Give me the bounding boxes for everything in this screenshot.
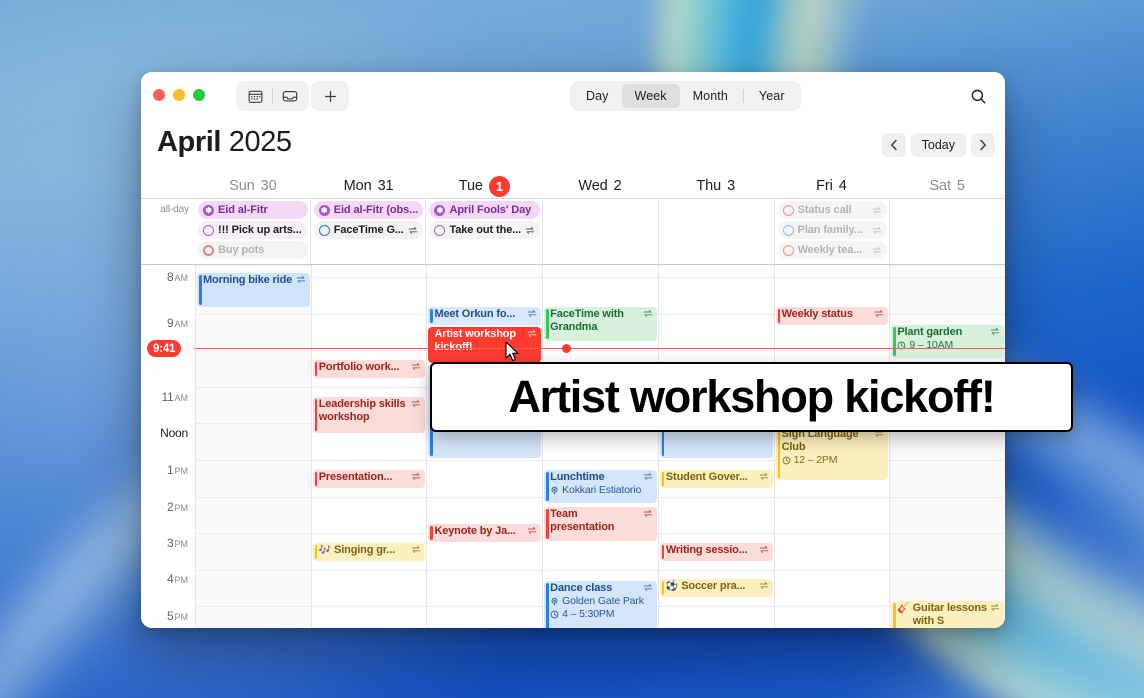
all-day-event[interactable]: Buy pots xyxy=(198,241,308,259)
event-color-bar xyxy=(315,472,318,486)
next-week-button[interactable] xyxy=(971,133,995,157)
hour-gridline xyxy=(427,277,542,278)
hour-label: 2PM xyxy=(167,500,188,514)
repeat-icon xyxy=(643,309,653,318)
hour-label: 5PM xyxy=(167,609,188,623)
header-bar: April 2025 Today xyxy=(141,120,1005,174)
all-day-event-title: !!! Pick up arts... xyxy=(218,224,303,236)
event-title: Soccer pra... xyxy=(681,580,755,593)
event-color-bar xyxy=(778,309,781,323)
view-toggle-group xyxy=(236,81,309,111)
hour-gridline xyxy=(312,314,427,315)
page-title: April 2025 xyxy=(157,126,292,159)
event-time-text: 4 – 5:30PM xyxy=(562,608,614,621)
hour-gridline xyxy=(196,533,311,534)
all-day-column-1[interactable]: ✱Eid al-Fitr (obs...FaceTime G... xyxy=(310,199,426,264)
hour-gridline xyxy=(775,277,890,278)
calendar-event[interactable]: 🎶Singing gr... xyxy=(313,543,426,561)
calendar-event[interactable]: Presentation... xyxy=(313,470,426,488)
hour-gridline xyxy=(775,497,890,498)
callout-text: Artist workshop kickoff! xyxy=(508,371,994,423)
event-title: Leadership skills workshop xyxy=(319,398,409,424)
hour-gridline xyxy=(312,570,427,571)
all-day-column-0[interactable]: ✱Eid al-Fitr!!! Pick up arts...Buy pots xyxy=(195,199,310,264)
time-grid[interactable]: 8AM9AM11AMNoon1PM2PM3PM4PM5PM Morning bi… xyxy=(141,265,1005,628)
all-day-event-title: Status call xyxy=(798,204,869,216)
day-column-3[interactable]: FaceTime with GrandmaLunchtimeKokkari Es… xyxy=(542,265,658,628)
hour-gridline xyxy=(312,277,427,278)
previous-week-button[interactable] xyxy=(882,133,906,157)
reminder-circle-icon xyxy=(203,225,214,236)
day-header-fri[interactable]: Fri4 xyxy=(774,174,890,198)
hour-gridline xyxy=(196,570,311,571)
hour-gridline xyxy=(427,460,542,461)
event-location: Golden Gate Park xyxy=(550,595,653,608)
reminder-circle-icon xyxy=(783,245,794,256)
repeat-icon xyxy=(411,472,421,481)
tab-day[interactable]: Day xyxy=(573,84,622,108)
event-color-bar xyxy=(893,327,896,356)
event-title-row: Lunchtime xyxy=(550,471,653,484)
repeat-icon xyxy=(872,226,882,235)
repeat-icon xyxy=(759,581,769,590)
event-title: Singing gr... xyxy=(334,544,408,557)
hour-gridline xyxy=(659,570,774,571)
event-color-bar xyxy=(662,545,665,559)
day-header-name: Wed xyxy=(578,178,607,194)
repeat-icon xyxy=(872,246,882,255)
hour-label: 9AM xyxy=(167,316,188,330)
day-header-name: Fri xyxy=(816,178,833,194)
hour-gridline xyxy=(196,460,311,461)
calendar-event[interactable]: LunchtimeKokkari Estiatorio xyxy=(544,470,657,503)
event-title: Dance class xyxy=(550,582,640,595)
day-header-tue[interactable]: Tue1 xyxy=(426,174,542,198)
event-color-bar xyxy=(430,309,433,323)
event-title-row: Weekly status xyxy=(782,308,885,321)
event-location-text: Golden Gate Park xyxy=(562,595,644,608)
repeat-icon xyxy=(411,399,421,408)
all-day-label: all-day xyxy=(141,199,195,264)
event-title: Presentation... xyxy=(319,471,409,484)
event-title-row: Keynote by Ja... xyxy=(434,525,537,538)
view-segmented-control: Day Week Month Year xyxy=(570,81,801,111)
calendar-event[interactable]: Leadership skills workshop xyxy=(313,397,426,433)
calendar-event[interactable]: Sign Language Club12 – 2PM xyxy=(776,427,889,480)
hour-gridline xyxy=(890,277,1005,278)
tab-year[interactable]: Year xyxy=(746,84,798,108)
hour-gridline xyxy=(543,460,658,461)
day-header-name: Sun xyxy=(229,178,255,194)
hour-gridline xyxy=(890,314,1005,315)
hour-gridline xyxy=(543,570,658,571)
all-day-event[interactable]: Weekly tea... xyxy=(778,241,888,259)
holiday-star-icon: ✱ xyxy=(434,205,445,216)
calendar-window: Day Week Month Year April 2025 Today xyxy=(141,72,1005,628)
traffic-lights xyxy=(153,89,205,101)
day-column-2[interactable]: Meet Orkun fo...Artist workshop kickoff!… xyxy=(426,265,542,628)
hour-label: Noon xyxy=(160,426,188,440)
repeat-icon xyxy=(990,603,1000,612)
repeat-icon xyxy=(411,362,421,371)
day-header-name: Mon xyxy=(344,178,372,194)
hour-gridline xyxy=(196,314,311,315)
segment-divider xyxy=(743,89,744,103)
current-time-dot xyxy=(562,344,571,353)
date-navigation: Today xyxy=(882,133,995,157)
repeat-icon xyxy=(872,206,882,215)
hour-gridline xyxy=(775,606,890,607)
event-title: Guitar lessons with S xyxy=(913,602,987,628)
repeat-icon xyxy=(643,509,653,518)
calendar-event[interactable]: ⚽Soccer pra... xyxy=(660,579,773,597)
event-title-row: Leadership skills workshop xyxy=(319,398,422,424)
hour-gutter: 8AM9AM11AMNoon1PM2PM3PM4PM5PM xyxy=(141,265,195,628)
hour-gridline xyxy=(775,570,890,571)
all-day-column-3[interactable] xyxy=(542,199,658,264)
hour-gridline xyxy=(427,606,542,607)
day-header-number: 2 xyxy=(614,178,622,194)
day-header-name: Sat xyxy=(929,178,950,194)
day-column-5[interactable]: Weekly statusSign Language Club12 – 2PM xyxy=(774,265,890,628)
day-header-name: Thu xyxy=(696,178,721,194)
tab-month[interactable]: Month xyxy=(680,84,741,108)
all-day-event-title: Weekly tea... xyxy=(798,244,869,256)
day-header-number: 3 xyxy=(727,178,735,194)
all-day-event-title: Eid al-Fitr xyxy=(218,204,303,216)
hour-gridline xyxy=(543,350,658,351)
hour-label: 8AM xyxy=(167,270,188,284)
plus-icon[interactable] xyxy=(313,83,347,109)
hour-gridline xyxy=(659,314,774,315)
all-day-event[interactable]: ✱Eid al-Fitr xyxy=(198,201,308,219)
event-title-row: 🎶Singing gr... xyxy=(319,544,422,557)
event-color-bar xyxy=(662,472,665,486)
current-time-badge: 9:41 xyxy=(147,340,181,357)
all-day-event[interactable]: Status call xyxy=(778,201,888,219)
hour-label: 1PM xyxy=(167,463,188,477)
hour-label: 11AM xyxy=(161,390,188,404)
repeat-icon xyxy=(527,309,537,318)
repeat-icon xyxy=(990,327,1000,336)
event-title-row: Meet Orkun fo... xyxy=(434,308,537,321)
all-day-event-title: Plan family... xyxy=(798,224,869,236)
title-year: 2025 xyxy=(229,126,292,158)
calendar-event[interactable]: FaceTime with Grandma xyxy=(544,307,657,341)
calendar-event[interactable]: Portfolio work... xyxy=(313,360,426,378)
all-day-column-4[interactable] xyxy=(658,199,774,264)
all-day-row: all-day ✱Eid al-Fitr!!! Pick up arts...B… xyxy=(141,198,1005,265)
all-day-column-2[interactable]: ✱April Fools' DayTake out the... xyxy=(425,199,542,264)
event-title-row: Writing sessio... xyxy=(666,544,769,557)
reminder-done-icon xyxy=(203,245,214,256)
all-day-column-5[interactable]: Status callPlan family...Weekly tea... xyxy=(774,199,890,264)
event-emoji-icon: ⚽ xyxy=(666,580,678,593)
event-time-text: 9 – 10AM xyxy=(909,339,953,352)
day-header-number: 31 xyxy=(378,178,394,194)
hour-gridline xyxy=(659,497,774,498)
holiday-star-icon: ✱ xyxy=(203,205,214,216)
event-title: Student Gover... xyxy=(666,471,756,484)
event-color-bar xyxy=(315,545,318,559)
repeat-icon xyxy=(527,526,537,535)
reminder-circle-icon xyxy=(783,225,794,236)
event-title: Writing sessio... xyxy=(666,544,756,557)
event-color-bar xyxy=(662,581,665,595)
day-header-number: 4 xyxy=(839,178,847,194)
holiday-star-icon: ✱ xyxy=(319,205,330,216)
window-toolbar: Day Week Month Year xyxy=(141,72,1005,120)
event-title-row: ⚽Soccer pra... xyxy=(666,580,769,593)
event-title: Morning bike ride xyxy=(203,274,293,287)
event-title: Plant garden xyxy=(897,326,987,339)
event-title: Team presentation xyxy=(550,508,640,534)
hour-gridline xyxy=(659,277,774,278)
day-header-wed[interactable]: Wed2 xyxy=(542,174,658,198)
repeat-icon xyxy=(874,309,884,318)
title-month: April xyxy=(157,126,221,158)
event-color-bar xyxy=(315,399,318,431)
event-location-text: Kokkari Estiatorio xyxy=(562,484,641,497)
hour-gridline xyxy=(775,533,890,534)
hour-gridline xyxy=(196,497,311,498)
calendar-event[interactable]: Team presentation xyxy=(544,507,657,541)
day-header-number: 30 xyxy=(261,178,277,194)
event-title: Lunchtime xyxy=(550,471,640,484)
all-day-event[interactable]: Plan family... xyxy=(778,221,888,239)
hour-gridline xyxy=(659,533,774,534)
day-header-sun[interactable]: Sun30 xyxy=(195,174,311,198)
calendar-event[interactable]: Writing sessio... xyxy=(660,543,773,561)
event-title: FaceTime with Grandma xyxy=(550,308,640,334)
event-title-row: Artist workshop kickoff! xyxy=(434,328,537,354)
event-color-bar xyxy=(778,429,781,478)
event-color-bar xyxy=(546,472,549,501)
today-button[interactable]: Today xyxy=(911,133,966,157)
hour-gridline xyxy=(543,277,658,278)
all-day-event-title: FaceTime G... xyxy=(334,224,405,236)
event-title: Weekly status xyxy=(782,308,872,321)
repeat-icon xyxy=(527,329,537,338)
event-emoji-icon: 🎸 xyxy=(897,602,909,615)
all-day-event[interactable]: !!! Pick up arts... xyxy=(198,221,308,239)
event-color-bar xyxy=(546,309,549,339)
all-day-event-title: April Fools' Day xyxy=(449,204,535,216)
event-time: 9 – 10AM xyxy=(897,339,1000,352)
all-day-event-title: Buy pots xyxy=(218,244,303,256)
event-color-bar xyxy=(546,583,549,628)
calendar-event[interactable]: Artist workshop kickoff! xyxy=(428,327,541,363)
event-title-row: FaceTime with Grandma xyxy=(550,308,653,334)
event-title-row: Team presentation xyxy=(550,508,653,534)
hour-gridline xyxy=(196,606,311,607)
event-title: Meet Orkun fo... xyxy=(434,308,524,321)
hour-gridline xyxy=(427,570,542,571)
current-time-line xyxy=(195,348,1005,349)
day-header-name: Tue xyxy=(459,178,483,194)
hour-gridline xyxy=(890,460,1005,461)
repeat-icon xyxy=(643,472,653,481)
all-day-event[interactable]: ✱April Fools' Day xyxy=(429,201,540,219)
add-group xyxy=(311,81,349,111)
hour-label: 3PM xyxy=(167,536,188,550)
hour-gridline xyxy=(196,423,311,424)
repeat-icon xyxy=(759,545,769,554)
search-icon[interactable] xyxy=(963,81,993,111)
hour-gridline xyxy=(659,460,774,461)
reminder-circle-icon xyxy=(434,225,445,236)
all-day-event-title: Take out the... xyxy=(449,224,521,236)
inbox-icon[interactable] xyxy=(273,83,307,109)
hour-gridline xyxy=(890,533,1005,534)
event-title-row: Presentation... xyxy=(319,471,422,484)
repeat-icon xyxy=(408,226,418,235)
hour-gridline xyxy=(312,350,427,351)
repeat-icon xyxy=(411,545,421,554)
all-day-event-title: Eid al-Fitr (obs... xyxy=(334,204,419,216)
hour-gridline xyxy=(312,533,427,534)
all-day-event[interactable]: FaceTime G... xyxy=(314,221,424,239)
event-title: Keynote by Ja... xyxy=(434,525,524,538)
all-day-event[interactable]: Take out the... xyxy=(429,221,540,239)
day-column-6[interactable]: Plant garden9 – 10AM🎸Guitar lessons with… xyxy=(889,265,1005,628)
hour-gridline xyxy=(312,497,427,498)
event-title: Portfolio work... xyxy=(319,361,409,374)
hour-gridline xyxy=(890,570,1005,571)
event-title-row: Morning bike ride xyxy=(203,274,306,287)
repeat-icon xyxy=(525,226,535,235)
day-header-thu[interactable]: Thu3 xyxy=(658,174,774,198)
hour-gridline xyxy=(312,387,427,388)
day-header-today-badge: 1 xyxy=(489,176,510,197)
calendar-icon[interactable] xyxy=(238,83,272,109)
repeat-icon xyxy=(759,472,769,481)
event-color-bar xyxy=(430,526,433,540)
repeat-icon xyxy=(643,583,653,592)
calendar-event[interactable]: 🎸Guitar lessons with S xyxy=(891,601,1004,628)
event-color-bar xyxy=(199,275,202,305)
hour-gridline xyxy=(312,460,427,461)
hour-gridline xyxy=(775,350,890,351)
day-column-0[interactable]: Morning bike ride xyxy=(195,265,311,628)
header-gutter xyxy=(141,174,195,198)
hour-gridline xyxy=(196,350,311,351)
day-header-number: 5 xyxy=(957,178,965,194)
event-time-text: 12 – 2PM xyxy=(794,454,838,467)
hour-gridline xyxy=(427,497,542,498)
event-color-bar xyxy=(546,509,549,539)
event-location: Kokkari Estiatorio xyxy=(550,484,653,497)
zoom-button[interactable] xyxy=(193,89,205,101)
event-title-row: Dance class xyxy=(550,582,653,595)
calendar-event[interactable]: Weekly status xyxy=(776,307,889,325)
calendar-event[interactable]: Morning bike ride xyxy=(197,273,310,307)
close-button[interactable] xyxy=(153,89,165,101)
hour-label: 4PM xyxy=(167,572,188,586)
day-column-4[interactable]: 11AM – 1PMStudent Gover...Writing sessio… xyxy=(658,265,774,628)
reminder-circle-icon xyxy=(783,205,794,216)
day-header-mon[interactable]: Mon31 xyxy=(311,174,427,198)
day-header-sat[interactable]: Sat5 xyxy=(889,174,1005,198)
event-title-row: Portfolio work... xyxy=(319,361,422,374)
event-title-row: Plant garden xyxy=(897,326,1000,339)
calendar-event[interactable]: Dance classGolden Gate Park4 – 5:30PM xyxy=(544,581,657,628)
hour-gridline xyxy=(890,497,1005,498)
calendar-event[interactable]: Plant garden9 – 10AM xyxy=(891,325,1004,358)
hour-gridline xyxy=(659,606,774,607)
event-title-row: 🎸Guitar lessons with S xyxy=(897,602,1000,628)
reminder-circle-icon xyxy=(319,225,330,236)
event-emoji-icon: 🎶 xyxy=(319,544,331,557)
zoom-callout-overlay: Artist workshop kickoff! xyxy=(430,362,1073,432)
minimize-button[interactable] xyxy=(173,89,185,101)
repeat-icon xyxy=(296,275,306,284)
calendar-event[interactable]: Keynote by Ja... xyxy=(428,524,541,542)
calendar-event[interactable]: Meet Orkun fo... xyxy=(428,307,541,325)
calendar-event[interactable]: Student Gover... xyxy=(660,470,773,488)
event-time: 4 – 5:30PM xyxy=(550,608,653,621)
all-day-column-6[interactable] xyxy=(889,199,1005,264)
event-time: 12 – 2PM xyxy=(782,454,885,467)
day-column-1[interactable]: Portfolio work...Leadership skills works… xyxy=(311,265,427,628)
hour-gridline xyxy=(312,606,427,607)
day-header-row: Sun30Mon31Tue1Wed2Thu3Fri4Sat5 xyxy=(141,174,1005,198)
event-color-bar xyxy=(893,603,896,628)
hour-gridline xyxy=(196,387,311,388)
tab-week[interactable]: Week xyxy=(622,84,680,108)
all-day-event[interactable]: ✱Eid al-Fitr (obs... xyxy=(314,201,424,219)
event-color-bar xyxy=(315,362,318,376)
hour-gridline xyxy=(659,350,774,351)
event-title-row: Student Gover... xyxy=(666,471,769,484)
